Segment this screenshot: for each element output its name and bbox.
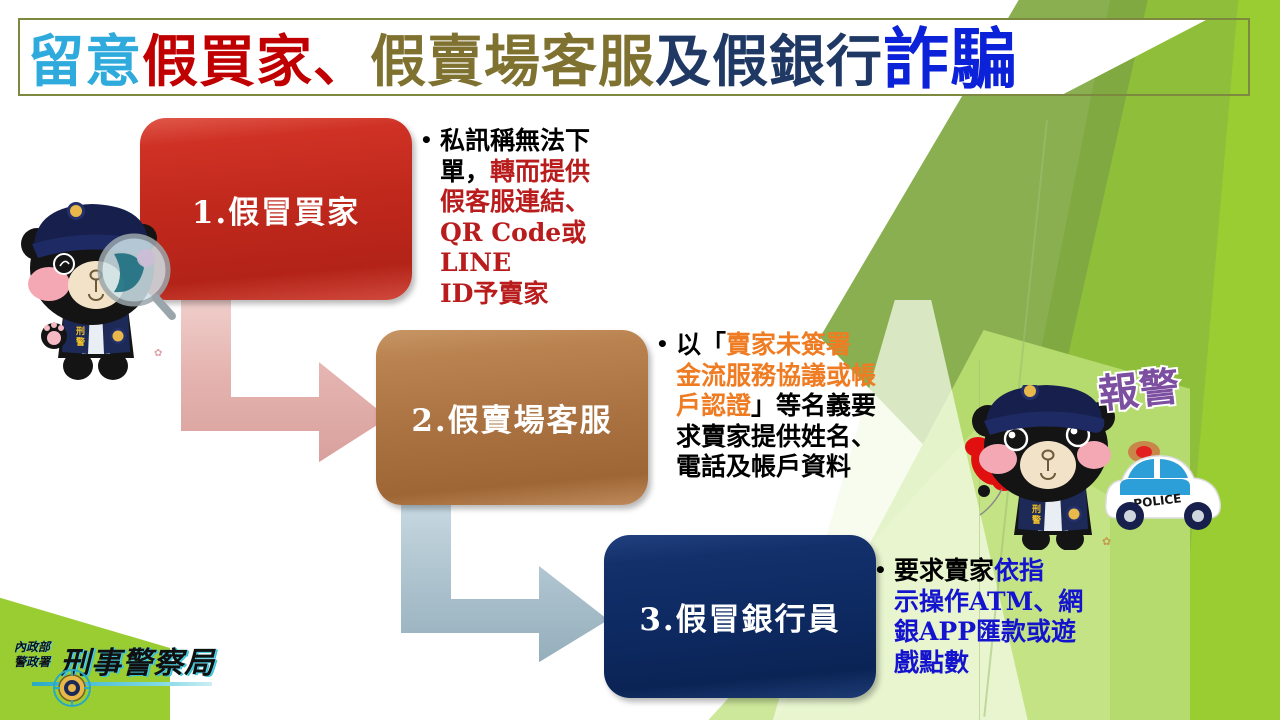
svg-text:刑: 刑 <box>1032 503 1041 515</box>
bullet-item-1: • 私訊稱無法下單，轉而提供假客服連結、QR Code或LINEID予賣家 <box>420 126 650 309</box>
step-box-3[interactable]: 3.假冒銀行員 <box>604 535 876 698</box>
step-box-3-label: 3.假冒銀行員 <box>639 594 840 639</box>
title-segment-5: 詐騙 <box>883 6 1017 102</box>
bullet-1-run-6: ID予賣家 <box>440 279 548 308</box>
arrow-step2-to-step3 <box>398 502 630 667</box>
step-box-1-label: 1.假冒買家 <box>192 187 360 232</box>
title-segment-4: 及假銀行 <box>655 17 883 98</box>
bullet-1-run-4: 假客服連結、 <box>440 187 590 216</box>
bullet-item-1-body: 私訊稱無法下單，轉而提供假客服連結、QR Code或LINEID予賣家 <box>420 126 650 309</box>
bullet-1-run-1: 私訊稱無法下 <box>440 126 590 155</box>
report-police-label: 報警 <box>1095 354 1183 420</box>
police-bear-with-magnifier: 刑 警 <box>6 158 186 383</box>
bullet-3-run-5: 戲點數 <box>894 648 969 677</box>
bullet-1-run-2: 單， <box>440 157 490 186</box>
step-box-2-label: 2.假賣場客服 <box>411 395 612 440</box>
police-emblem-icon <box>52 668 92 708</box>
bullet-item-2-body: 以「賣家未簽署金流服務協議或帳戶認證」等名義要求賣家提供姓名、電話及帳戶資料 <box>656 330 918 483</box>
agency-logo-line1: 內政部 <box>14 640 50 654</box>
bullet-2-run-6: 求賣家提供姓名、 <box>676 422 876 451</box>
title-segment-1: 留意 <box>28 17 142 98</box>
bullet-3-run-2: 依指 <box>994 556 1044 585</box>
police-car: POLICE <box>1098 440 1230 532</box>
svg-text:✿: ✿ <box>1102 535 1111 548</box>
bullet-marker: • <box>656 332 669 356</box>
svg-text:警: 警 <box>1032 514 1041 526</box>
page-title: 留意假買家、假賣場客服及假銀行詐騙 <box>28 16 1248 98</box>
agency-logo-subtext: 內政部 警政署 <box>14 640 50 670</box>
agency-logo: 內政部 警政署 刑事警察局 <box>6 636 218 710</box>
bullet-2-run-7: 電話及帳戶資料 <box>676 452 851 481</box>
title-segment-2: 假買家、 <box>142 17 370 98</box>
bullet-2-run-1: 以「 <box>676 330 726 359</box>
bullet-1-run-3: 轉而提供 <box>490 157 590 186</box>
bullet-3-run-1: 要求賣家 <box>894 556 994 585</box>
bullet-2-run-3: 金流服務協議或帳 <box>676 361 876 390</box>
bullet-1-run-5: QR Code或LINE <box>440 218 586 278</box>
bullet-2-run-4: 戶認證 <box>676 391 751 420</box>
step-box-2[interactable]: 2.假賣場客服 <box>376 330 648 505</box>
svg-text:刑: 刑 <box>76 325 85 337</box>
bullet-2-run-2: 賣家未簽署 <box>726 330 851 359</box>
slide-canvas: 留意假買家、假賣場客服及假銀行詐騙 <box>0 0 1280 720</box>
title-segment-3: 假賣場客服 <box>370 17 655 98</box>
bullet-item-3-body: 要求賣家依指示操作ATM、網銀APP匯款或遊戲點數 <box>874 556 1096 678</box>
bullet-3-run-3: 示操作ATM、網 <box>894 587 1083 616</box>
bullet-marker: • <box>874 558 887 582</box>
agency-logo-line2: 警政署 <box>14 655 50 669</box>
bullet-marker: • <box>420 128 433 152</box>
bullet-item-2: • 以「賣家未簽署金流服務協議或帳戶認證」等名義要求賣家提供姓名、電話及帳戶資料 <box>656 330 918 483</box>
svg-text:警: 警 <box>76 336 85 348</box>
bullet-item-3: • 要求賣家依指示操作ATM、網銀APP匯款或遊戲點數 <box>874 556 1096 678</box>
bullet-3-run-4: 銀APP匯款或遊 <box>894 617 1076 646</box>
bullet-2-run-5: 」等名義要 <box>751 391 876 420</box>
svg-text:✿: ✿ <box>154 348 162 359</box>
